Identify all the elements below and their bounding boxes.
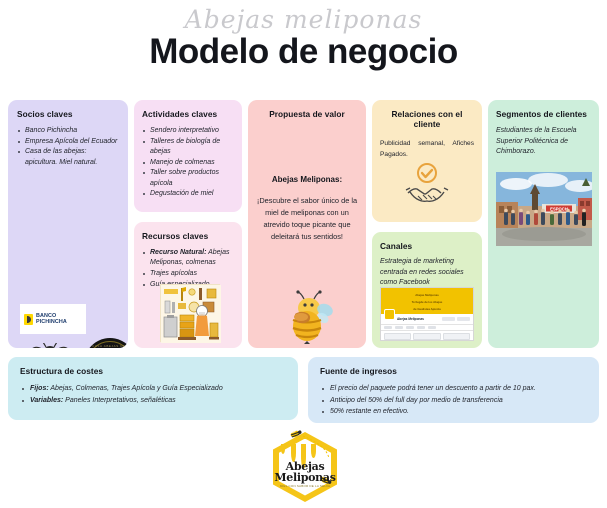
list-item: Talleres de biología de abejas (142, 137, 234, 157)
block-relaciones-con-el-cliente: Relaciones con el cliente Publicidad sem… (372, 100, 482, 222)
post-card[interactable] (443, 333, 470, 340)
costes-title: Estructura de costes (20, 366, 286, 376)
post-card[interactable] (413, 333, 440, 340)
canales-title: Canales (380, 241, 474, 251)
espoch-campus-photo: ESPOCH (496, 172, 592, 246)
banco-pichincha-logo: BANCO PICHINCHA (20, 304, 86, 334)
actividades-title: Actividades claves (142, 109, 234, 119)
facebook-post-row (381, 331, 473, 341)
block-segmentos-de-clientes: Segmentos de clientes Estudiantes de la … (488, 100, 599, 348)
ingresos-list: El precio del paquete podrá tener un des… (320, 384, 587, 418)
list-item: Banco Pichincha (17, 126, 119, 136)
list-item: Trajes apícolas (142, 269, 234, 279)
tab-fotos[interactable] (406, 326, 414, 329)
apicola-del-ecuador-logo: CASA ABEJAS DEL ECUADOR Apícola del Ecua… (84, 338, 128, 348)
logo-wordmark: Abejas Meliponas (273, 462, 337, 483)
block-canales: Canales Estrategia de marketing centrada… (372, 232, 482, 348)
list-item: Casa de las abejas: apicultura. Miel nat… (17, 147, 119, 167)
tab-mas[interactable] (428, 326, 436, 329)
propuesta-text: ¡Descubre el sabor único de la miel de m… (256, 195, 358, 243)
tab-videos[interactable] (417, 326, 425, 329)
page-title: Modelo de negocio (0, 31, 607, 73)
costes-list: Fijos: Abejas, Colmenas, Trajes Apícola … (20, 384, 286, 406)
segmentos-text: Estudiantes de la Escuela Superior Polit… (496, 126, 591, 158)
facebook-page-name: Abejas Meliponas (397, 317, 424, 321)
header-script-title: Abejas meliponas (0, 0, 607, 35)
bee-honeycomb-icon (16, 343, 84, 348)
item-strong: Recurso Natural: (150, 249, 206, 256)
relaciones-text: Publicidad semanal, Afiches Pagados. (380, 138, 474, 160)
item-rest: Trajes apícolas (150, 270, 197, 277)
item-strong: Variables: (30, 397, 63, 404)
item-strong: Fijos: (30, 385, 49, 392)
actividades-list: Sendero interpretativo Talleres de biolo… (142, 126, 234, 199)
cover-line-2: Te Ilegde de los Abejas (381, 300, 473, 304)
list-item: Variables: Paneles Interpretativos, seña… (20, 396, 286, 406)
item-rest: Paneles Interpretativos, señaléticas (63, 397, 175, 404)
abejas-meliponas-logo: Abejas Meliponas MIEL CON SABOR DE LA SE… (255, 430, 355, 504)
list-item: Taller sobre productos apícola (142, 168, 234, 188)
block-propuesta-de-valor: Propuesta de valor Abejas Meliponas: ¡De… (248, 100, 366, 348)
ingresos-title: Fuente de ingresos (320, 366, 587, 376)
block-estructura-de-costes: Estructura de costes Fijos: Abejas, Colm… (8, 357, 298, 420)
banco-pichincha-mark-icon (24, 314, 33, 325)
segmentos-title: Segmentos de clientes (496, 109, 591, 119)
list-item: Fijos: Abejas, Colmenas, Trajes Apícola … (20, 384, 286, 394)
relaciones-title: Relaciones con el cliente (380, 109, 474, 129)
page-header: Abejas meliponas Modelo de negocio (0, 0, 607, 73)
propuesta-subtitle: Abejas Meliponas: (256, 175, 358, 184)
cover-line-1: Abejas Meliponas (381, 293, 473, 297)
facebook-page-screenshot: Abejas Meliponas Te Ilegde de los Abejas… (380, 287, 474, 341)
list-item: Empresa Apícola del Ecuador (17, 137, 119, 147)
business-model-canvas: Abejas meliponas Modelo de negocio Socio… (0, 0, 607, 508)
list-item: Anticipo del 50% del full day por medio … (320, 396, 587, 406)
recursos-title: Recursos claves (142, 231, 234, 241)
tab-inicio[interactable] (384, 326, 392, 329)
beekeeping-equipment-illustration (160, 284, 220, 342)
socios-list: Banco Pichincha Empresa Apícola del Ecua… (17, 126, 119, 168)
list-item: 50% restante en efectivo. (320, 407, 587, 417)
casa-de-abejas-logo: CASA DE ABEJAS (16, 343, 84, 348)
avatar (384, 309, 395, 320)
apicola-top-text: CASA ABEJAS DEL ECUADOR (84, 344, 128, 348)
block-actividades-claves: Actividades claves Sendero interpretativ… (134, 100, 242, 212)
tab-publicaciones[interactable] (395, 326, 403, 329)
propuesta-title: Propuesta de valor (256, 109, 358, 119)
share-button[interactable] (457, 317, 470, 321)
list-item: Recurso Natural: Abejas Meliponas, colme… (142, 248, 234, 268)
list-item: El precio del paquete podrá tener un des… (320, 384, 587, 394)
post-card[interactable] (384, 333, 411, 340)
facebook-profile-row: Abejas Meliponas (381, 314, 473, 325)
canales-text: Estrategia de marketing centrada en rede… (380, 257, 474, 289)
list-item: Sendero interpretativo (142, 126, 234, 136)
facebook-action-buttons[interactable] (442, 317, 470, 321)
block-recursos-claves: Recursos claves Recurso Natural: Abejas … (134, 222, 242, 348)
bee-with-honey-illustration (279, 290, 335, 344)
banco-pichincha-wordmark: BANCO PICHINCHA (36, 313, 67, 325)
item-rest: Abejas, Colmenas, Trajes Apícola y Guía … (49, 385, 223, 392)
list-item: Degustación de miel (142, 189, 234, 199)
handshake-icon (404, 162, 450, 206)
logo-tagline: MIEL CON SABOR DE LA SELVA (273, 484, 337, 488)
block-fuente-de-ingresos: Fuente de ingresos El precio del paquete… (308, 357, 599, 423)
list-item: Manejo de colmenas (142, 158, 234, 168)
like-button[interactable] (442, 317, 455, 321)
block-socios-claves: Socios claves Banco Pichincha Empresa Ap… (8, 100, 128, 348)
socios-title: Socios claves (17, 109, 119, 119)
